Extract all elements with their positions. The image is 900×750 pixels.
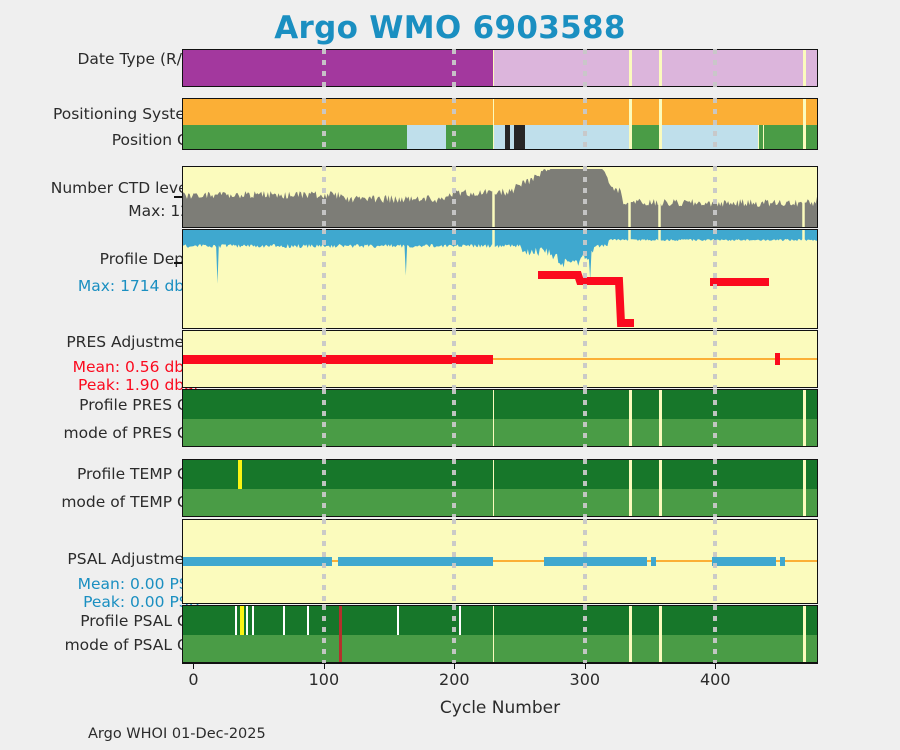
segment-positioning-4	[662, 99, 803, 125]
segment-presqc-bot-5	[806, 419, 818, 447]
row-label-mode-psal-qc: mode of PSAL QC	[65, 636, 200, 655]
gridline-200-p7	[452, 519, 456, 604]
psal-segment-3	[544, 557, 647, 566]
row-label-mode-temp-qc: mode of TEMP QC	[61, 493, 200, 512]
gridline-400-p2	[713, 166, 717, 228]
segment-psalqc-bot-1	[183, 635, 493, 663]
segment-tempqc-top-5	[806, 460, 818, 489]
row-label-positioning: Positioning System	[53, 105, 200, 124]
x-tick-label-100: 100	[309, 670, 340, 689]
panel-positioning-position-qc	[182, 98, 818, 150]
gridline-100-p6	[322, 459, 326, 517]
gridline-200-p3	[452, 229, 456, 329]
segment-posqc-good-1	[183, 125, 407, 150]
gridline-100-p4	[322, 330, 326, 388]
segment-presqc-top-5	[806, 390, 818, 419]
segment-presqc-top-4	[662, 390, 803, 419]
gridline-300-p1	[583, 98, 587, 150]
segment-posqc-blue-5	[662, 125, 758, 150]
band-positioning-system	[183, 99, 817, 125]
row-label-pres-adjustment: PRES Adjustment	[66, 333, 200, 352]
gridline-100-p2	[322, 166, 326, 228]
gridline-100-p5	[322, 389, 326, 447]
segment-psalqc-bot-4	[662, 635, 803, 663]
segment-positioning-5	[806, 99, 818, 125]
segment-posqc-good-4	[759, 125, 763, 150]
band-profile-temp-qc	[183, 460, 817, 489]
flag-psalqc-yellow	[240, 606, 244, 635]
psal-segment-5	[712, 557, 776, 566]
ctd-levels-trace	[183, 167, 817, 227]
segment-real-time-3	[662, 50, 803, 86]
band-position-qc	[183, 125, 817, 150]
row-label-mode-pres-qc: mode of PRES QC	[64, 424, 200, 443]
gridline-200-p1	[452, 98, 456, 150]
x-tick-label-200: 200	[439, 670, 470, 689]
gridline-300-p2	[583, 166, 587, 228]
segment-positioning-3	[632, 99, 659, 125]
gridline-200-p2	[452, 166, 456, 228]
segment-psalqc-bot-3	[632, 635, 659, 663]
panel-profile-depth	[182, 229, 818, 329]
gridline-300-p0	[583, 49, 587, 87]
segment-psalqc-top-3	[632, 606, 659, 635]
x-axis-label: Cycle Number	[182, 698, 818, 718]
gap-psalqc-c	[252, 606, 254, 635]
segment-psalqc-top-4	[662, 606, 803, 635]
segment-posqc-good-5	[764, 125, 803, 150]
gridline-100-p1	[322, 98, 326, 150]
segment-tempqc-bot-4	[662, 489, 803, 517]
flag-tempqc-yellow	[238, 460, 242, 489]
segment-posqc-blue-2	[494, 125, 505, 150]
gridline-300-p5	[583, 389, 587, 447]
footer-credit: Argo WHOI 01-Dec-2025	[88, 726, 266, 742]
segment-posqc-blue-1	[407, 125, 446, 150]
row-label-pres-mean: Mean: 0.56 dbar	[73, 358, 200, 377]
gridline-400-p1	[713, 98, 717, 150]
gap-psalqc-e	[307, 606, 309, 635]
panel-profile-psal-qc	[182, 605, 818, 663]
segment-presqc-top-3	[632, 390, 659, 419]
x-tick-300	[585, 663, 586, 669]
x-tick-100	[324, 663, 325, 669]
gridline-300-p8	[583, 605, 587, 663]
segment-posqc-black-2	[514, 125, 525, 150]
psal-segment-1	[183, 557, 332, 566]
segment-presqc-bot-1	[183, 419, 493, 447]
segment-psalqc-top-1	[183, 606, 493, 635]
gridline-200-p5	[452, 389, 456, 447]
band-mode-temp-qc	[183, 489, 817, 517]
gap-psalqc-g	[459, 606, 461, 635]
x-tick-label-400: 400	[700, 670, 731, 689]
gridline-100-p0	[322, 49, 326, 87]
segment-posqc-blue-4	[525, 125, 629, 150]
pres-adjustment-segment-1	[183, 355, 493, 364]
panel-profile-temp-qc	[182, 459, 818, 517]
segment-presqc-top-1	[183, 390, 493, 419]
segment-real-time-4	[806, 50, 818, 86]
gridline-200-p6	[452, 459, 456, 517]
segment-tempqc-top-1	[183, 460, 493, 489]
x-tick-0	[193, 663, 194, 669]
segment-delayed-mode	[183, 50, 493, 86]
x-tick-400	[715, 663, 716, 669]
gridline-400-p7	[713, 519, 717, 604]
gridline-400-p0	[713, 49, 717, 87]
segment-posqc-good-6	[806, 125, 818, 150]
pres-adjustment-spike	[775, 353, 780, 365]
x-tick-200	[454, 663, 455, 669]
gridline-200-p0	[452, 49, 456, 87]
segment-tempqc-bot-2	[494, 489, 629, 517]
x-axis-line	[182, 663, 818, 664]
gap-psalqc-d	[283, 606, 285, 635]
segment-real-time-1	[494, 50, 629, 86]
row-label-psal-adjustment: PSAL Adjustment	[67, 550, 200, 569]
segment-psalqc-top-2	[494, 606, 629, 635]
gridline-400-p5	[713, 389, 717, 447]
x-tick-label-300: 300	[570, 670, 601, 689]
segment-psalqc-top-5	[806, 606, 818, 635]
segment-positioning-2	[494, 99, 629, 125]
panel-profile-pres-qc	[182, 389, 818, 447]
page-title: Argo WMO 6903588	[0, 10, 900, 46]
segment-psalqc-bot-5	[806, 635, 818, 663]
gridline-300-p6	[583, 459, 587, 517]
band-profile-pres-qc	[183, 390, 817, 419]
band-mode-pres-qc	[183, 419, 817, 447]
gap-psalqc-f	[397, 606, 399, 635]
psal-segment-2	[338, 557, 493, 566]
gridline-400-p4	[713, 330, 717, 388]
psal-segment-4	[651, 557, 656, 566]
segment-tempqc-top-3	[632, 460, 659, 489]
segment-posqc-good-3	[632, 125, 659, 150]
gridline-100-p8	[322, 605, 326, 663]
gridline-100-p7	[322, 519, 326, 604]
segment-presqc-bot-2	[494, 419, 629, 447]
x-tick-label-0: 0	[188, 670, 198, 689]
gridline-100-p3	[322, 229, 326, 329]
panel-date-type	[182, 49, 818, 87]
panel-ctd-levels	[182, 166, 818, 228]
segment-presqc-top-2	[494, 390, 629, 419]
segment-real-time-2	[632, 50, 659, 86]
gridline-400-p8	[713, 605, 717, 663]
gridline-400-p6	[713, 459, 717, 517]
gridline-300-p3	[583, 229, 587, 329]
gridline-400-p3	[713, 229, 717, 329]
ctd-axis-tick	[174, 196, 182, 198]
depth-axis-tick	[174, 262, 182, 264]
gap-psalqc-b	[246, 606, 248, 635]
gridline-200-p8	[452, 605, 456, 663]
band-mode-psal-qc	[183, 635, 817, 663]
segment-presqc-bot-3	[632, 419, 659, 447]
band-profile-psal-qc	[183, 606, 817, 635]
psal-segment-6	[780, 557, 785, 566]
gap-psalqc-a	[235, 606, 237, 635]
segment-positioning-1	[183, 99, 493, 125]
gridline-200-p4	[452, 330, 456, 388]
segment-psalqc-bot-2	[494, 635, 629, 663]
gridline-300-p7	[583, 519, 587, 604]
panel-psal-adjustment	[182, 519, 818, 604]
gridline-300-p4	[583, 330, 587, 388]
flag-psalqc-red	[339, 606, 342, 663]
segment-presqc-bot-4	[662, 419, 803, 447]
park-pressure-overlay	[183, 230, 817, 328]
segment-tempqc-top-4	[662, 460, 803, 489]
segment-tempqc-bot-5	[806, 489, 818, 517]
segment-tempqc-bot-1	[183, 489, 493, 517]
segment-tempqc-top-2	[494, 460, 629, 489]
segment-tempqc-bot-3	[632, 489, 659, 517]
panel-pres-adjustment	[182, 330, 818, 388]
